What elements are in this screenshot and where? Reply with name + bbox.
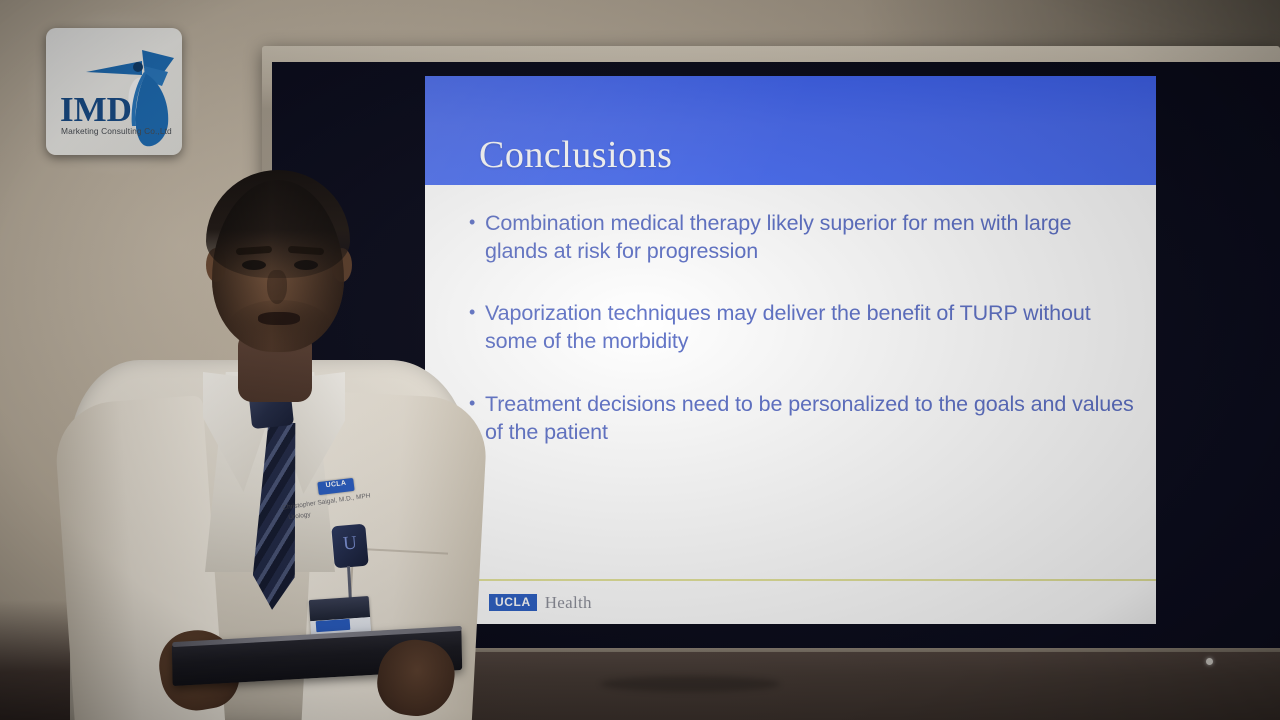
slide-bullet-list: • Combination medical therapy likely sup… (425, 185, 1156, 570)
power-indicator-light (1206, 658, 1213, 665)
ucla-badge: UCLA (489, 594, 537, 611)
slide-bullet-item: • Vaporization techniques may deliver th… (469, 300, 1134, 355)
presentation-slide: Conclusions • Combination medical therap… (425, 76, 1156, 624)
id-badge-ucla-mark (316, 619, 351, 632)
video-frame: Conclusions • Combination medical therap… (0, 0, 1280, 720)
slide-title-banner: Conclusions (425, 76, 1156, 185)
watermark-tagline: Marketing Consulting Co.,Ltd (61, 126, 172, 136)
slide-bullet-item: • Treatment decisions need to be persona… (469, 391, 1134, 446)
badge-reel-letter: U (332, 532, 368, 557)
bullet-text: Combination medical therapy likely super… (485, 210, 1134, 265)
watermark-brand: IMD (60, 92, 132, 127)
slide-footer: UCLA Health (425, 581, 1156, 624)
bullet-text: Treatment decisions need to be personali… (485, 391, 1134, 446)
ucla-health-wordmark: Health (545, 593, 592, 613)
slide-bullet-item: • Combination medical therapy likely sup… (469, 210, 1134, 265)
display-stand-vent (600, 676, 780, 692)
presenter-figure: UCLA Christopher Saigal, M.D., MPH Urolo… (60, 150, 480, 720)
bullet-text: Vaporization techniques may deliver the … (485, 300, 1134, 355)
